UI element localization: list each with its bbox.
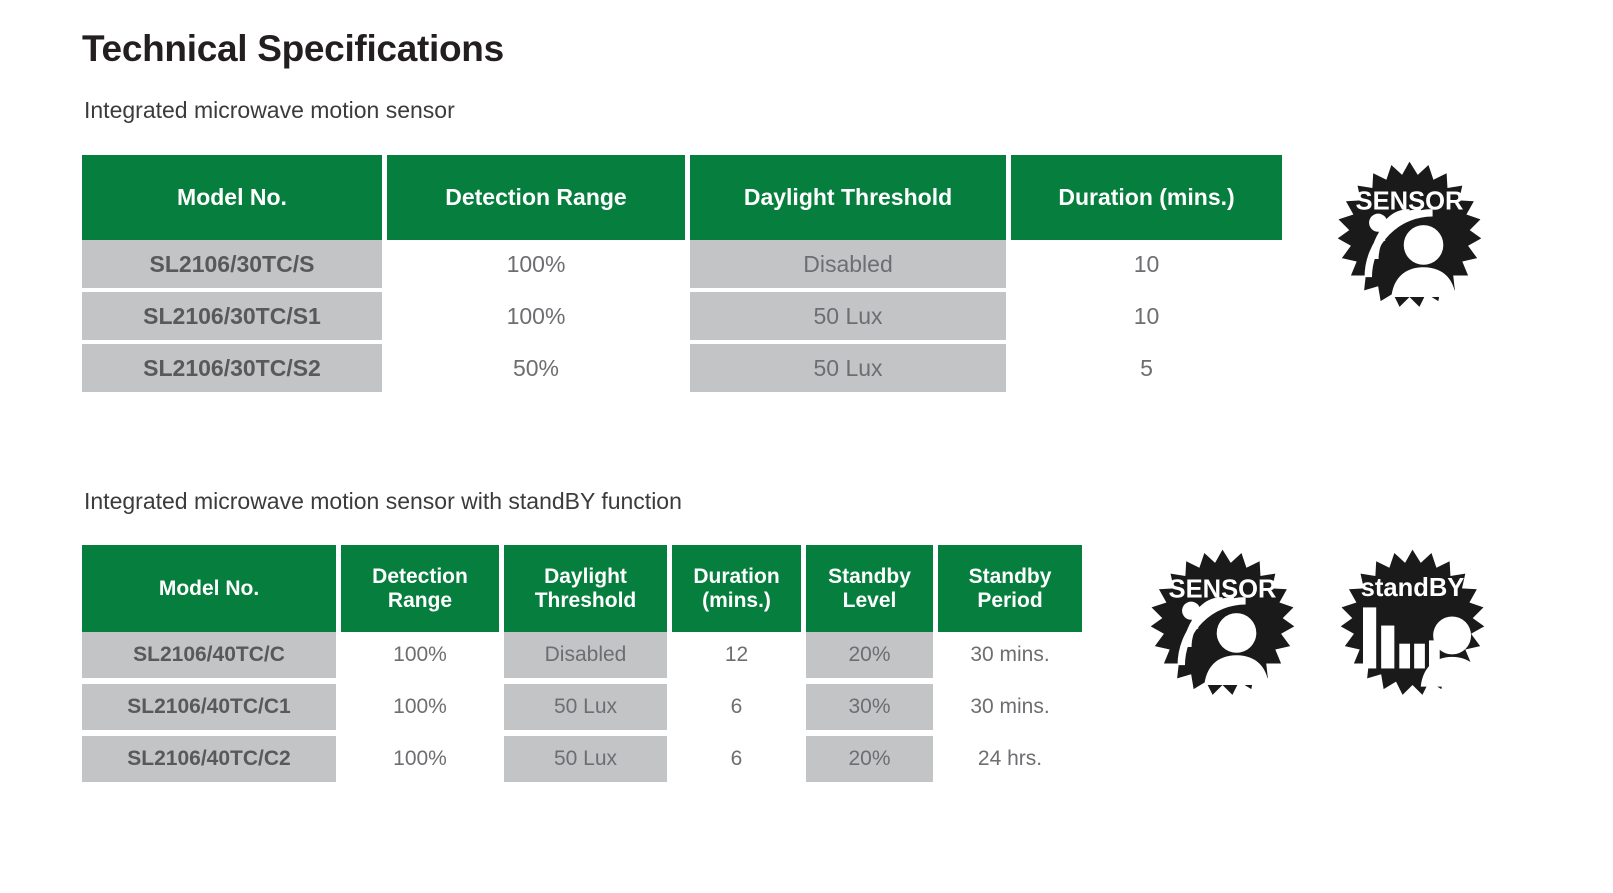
cell-model-no: SL2106/40TC/C [82,632,336,678]
table-row: SL2106/40TC/C2 100% 50 Lux 6 20% 24 hrs. [82,736,1082,782]
column-header-daylight-threshold: Daylight Threshold [690,155,1006,240]
cell-model-no: SL2106/40TC/C2 [82,736,336,782]
column-header-model-no: Model No. [82,155,382,240]
cell-model-no: SL2106/30TC/S1 [82,292,382,340]
cell-model-no: SL2106/40TC/C1 [82,684,336,730]
header-line-2: (mins.) [672,589,801,613]
header-line-2: Threshold [504,589,667,613]
spec-table-microwave-sensor: Model No. Detection Range Daylight Thres… [82,155,1282,392]
cell-model-no: SL2106/30TC/S [82,240,382,288]
section-1-subtitle: Integrated microwave motion sensor [84,97,455,124]
table-row: SL2106/30TC/S 100% Disabled 10 [82,240,1282,288]
cell-daylight-threshold: Disabled [504,632,667,678]
table-row: SL2106/30TC/S2 50% 50 Lux 5 [82,344,1282,392]
column-header-standby-level: Standby Level [806,545,933,632]
section-2-subtitle: Integrated microwave motion sensor with … [84,488,682,515]
column-header-duration: Duration (mins.) [1011,155,1282,240]
cell-daylight-threshold: 50 Lux [504,684,667,730]
cell-standby-period: 30 mins. [938,632,1082,678]
header-line-1: Model No. [82,577,336,601]
cell-duration: 5 [1011,344,1282,392]
spec-table-microwave-sensor-standby: Model No. Detection Range Daylight Thres… [82,545,1082,782]
sensor-badge-icon: SENSOR [1327,160,1492,325]
cell-standby-period: 24 hrs. [938,736,1082,782]
header-line-1: Daylight [504,565,667,589]
cell-detection-range: 100% [341,684,499,730]
cell-detection-range: 50% [387,344,685,392]
table-header-row: Model No. Detection Range Daylight Thres… [82,545,1082,632]
cell-daylight-threshold: Disabled [690,240,1006,288]
cell-duration: 6 [672,684,801,730]
column-header-model-no: Model No. [82,545,336,632]
table-header-row: Model No. Detection Range Daylight Thres… [82,155,1282,240]
cell-daylight-threshold: 50 Lux [690,292,1006,340]
standby-badge-icon: standBY [1330,548,1495,713]
cell-standby-level: 30% [806,684,933,730]
sensor-badge-label: SENSOR [1356,188,1464,216]
cell-duration: 10 [1011,240,1282,288]
header-line-2: Period [938,589,1082,613]
header-line-1: Duration [672,565,801,589]
cell-daylight-threshold: 50 Lux [504,736,667,782]
column-header-duration: Duration (mins.) [672,545,801,632]
table-row: SL2106/40TC/C 100% Disabled 12 20% 30 mi… [82,632,1082,678]
header-line-2: Range [341,589,499,613]
cell-detection-range: 100% [341,632,499,678]
cell-standby-level: 20% [806,632,933,678]
column-header-daylight-threshold: Daylight Threshold [504,545,667,632]
sensor-badge-label: SENSOR [1169,576,1277,604]
cell-detection-range: 100% [341,736,499,782]
cell-detection-range: 100% [387,292,685,340]
cell-standby-period: 30 mins. [938,684,1082,730]
sensor-badge-icon: SENSOR [1140,548,1305,713]
column-header-standby-period: Standby Period [938,545,1082,632]
header-line-1: Detection [341,565,499,589]
standby-badge-label: standBY [1361,574,1465,602]
header-line-2: Level [806,589,933,613]
header-line-1: Standby [938,565,1082,589]
cell-daylight-threshold: 50 Lux [690,344,1006,392]
table-row: SL2106/40TC/C1 100% 50 Lux 6 30% 30 mins… [82,684,1082,730]
column-header-detection-range: Detection Range [387,155,685,240]
cell-detection-range: 100% [387,240,685,288]
cell-duration: 12 [672,632,801,678]
table-row: SL2106/30TC/S1 100% 50 Lux 10 [82,292,1282,340]
cell-model-no: SL2106/30TC/S2 [82,344,382,392]
cell-duration: 10 [1011,292,1282,340]
page-title: Technical Specifications [82,28,504,70]
header-line-1: Standby [806,565,933,589]
cell-standby-level: 20% [806,736,933,782]
column-header-detection-range: Detection Range [341,545,499,632]
cell-duration: 6 [672,736,801,782]
